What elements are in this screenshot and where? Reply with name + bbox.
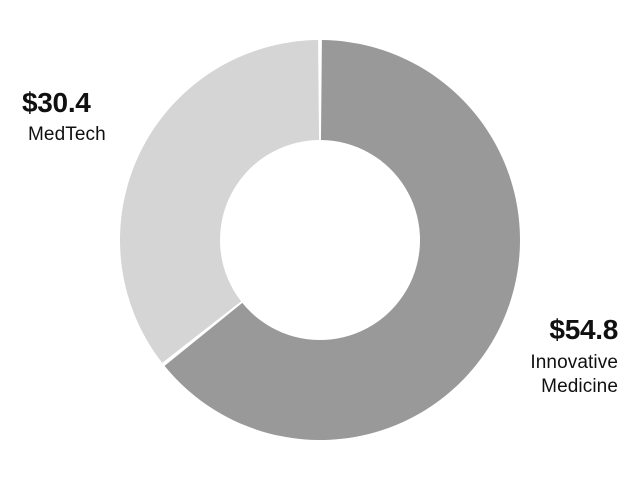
slice-name-innovative-medicine: Innovative Medicine [468,351,618,400]
slice-name-innovative-medicine-line2: Medicine [468,375,618,399]
slice-name-innovative-medicine-line1: Innovative [468,351,618,375]
slice-value-innovative-medicine: $54.8 [468,313,618,346]
donut-chart [0,0,640,480]
slice-label-innovative-medicine: $54.8 Innovative Medicine [468,313,618,400]
slice-medtech[interactable] [120,40,319,363]
slice-name-medtech: MedTech [22,124,106,146]
donut-slices [120,40,520,440]
slice-value-medtech: $30.4 [22,86,106,119]
donut-chart-canvas: $30.4 MedTech $54.8 Innovative Medicine [0,0,640,480]
slice-label-medtech: $30.4 MedTech [22,86,106,146]
